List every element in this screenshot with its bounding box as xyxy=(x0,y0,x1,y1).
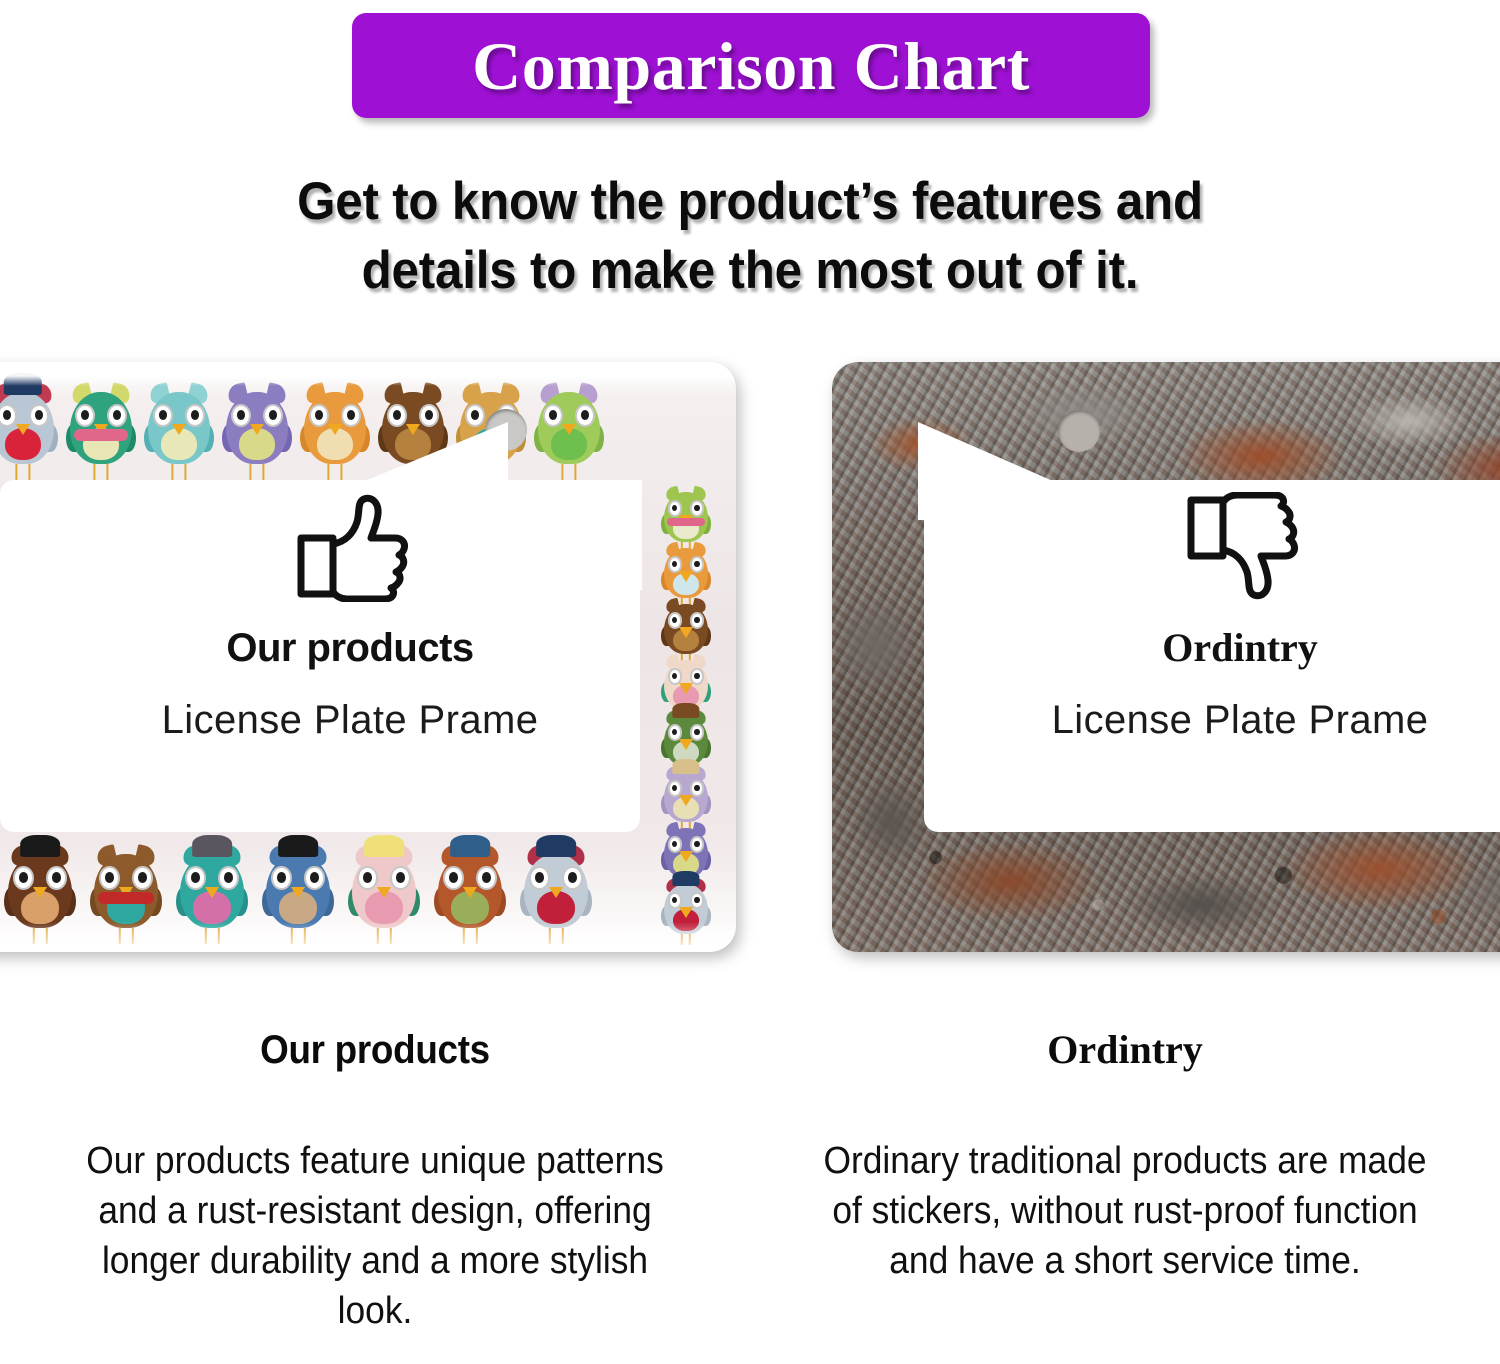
owl-right-1 xyxy=(664,548,708,598)
ordinary-product-verdict: Ordintry xyxy=(960,628,1500,668)
description-columns: Our products Our products feature unique… xyxy=(0,1030,1500,1364)
owl-bottom-7 xyxy=(524,854,588,928)
owl-right-5 xyxy=(664,772,708,822)
owl-bottom-4 xyxy=(266,854,330,928)
ordinary-product-description-body: Ordinary traditional products are made o… xyxy=(815,1136,1434,1286)
owl-top-4 xyxy=(226,392,288,464)
owl-bottom-6 xyxy=(438,854,502,928)
owl-right-7 xyxy=(664,884,708,934)
owl-top-3 xyxy=(148,392,210,464)
owl-bottom-1 xyxy=(8,854,72,928)
our-product-name: License Plate Prame xyxy=(70,700,630,740)
owl-right-0 xyxy=(664,492,708,542)
comparison-chart-page: Comparison Chart Get to know the product… xyxy=(0,0,1500,1364)
subtitle-line-1: Get to know the product’s features and xyxy=(53,168,1448,237)
mounting-hole-top-left-rust xyxy=(1058,410,1100,452)
ordinary-product-description-column: Ordintry Ordinary traditional products a… xyxy=(750,1030,1500,1364)
owl-bottom-5 xyxy=(352,854,416,928)
our-product-verdict: Our products xyxy=(70,628,630,668)
owl-bottom-2 xyxy=(94,854,158,928)
owl-top-5 xyxy=(304,392,366,464)
owl-top-2 xyxy=(70,392,132,464)
our-product-description-heading: Our products xyxy=(69,1030,682,1070)
owl-top-8 xyxy=(538,392,600,464)
thumbs-down-icon xyxy=(1181,492,1299,602)
ordinary-product-name: License Plate Prame xyxy=(960,700,1500,740)
our-product-window-content: Our products License Plate Prame xyxy=(70,492,630,740)
ordinary-product-window-content: Ordintry License Plate Prame xyxy=(960,492,1500,740)
ordinary-product-description-heading: Ordintry xyxy=(792,1030,1458,1070)
owl-right-2 xyxy=(664,604,708,654)
owl-top-1 xyxy=(0,392,54,464)
our-product-description-column: Our products Our products feature unique… xyxy=(0,1030,750,1364)
our-product-description-body: Our products feature unique patterns and… xyxy=(65,1136,684,1337)
page-title: Comparison Chart xyxy=(472,32,1030,100)
subtitle: Get to know the product’s features and d… xyxy=(53,168,1448,306)
frames-row: Our products License Plate Prame Ordintr… xyxy=(0,362,1500,962)
subtitle-line-2: details to make the most out of it. xyxy=(53,237,1448,306)
thumbs-up-icon xyxy=(291,492,409,602)
owl-bottom-3 xyxy=(180,854,244,928)
title-banner: Comparison Chart xyxy=(352,13,1150,118)
